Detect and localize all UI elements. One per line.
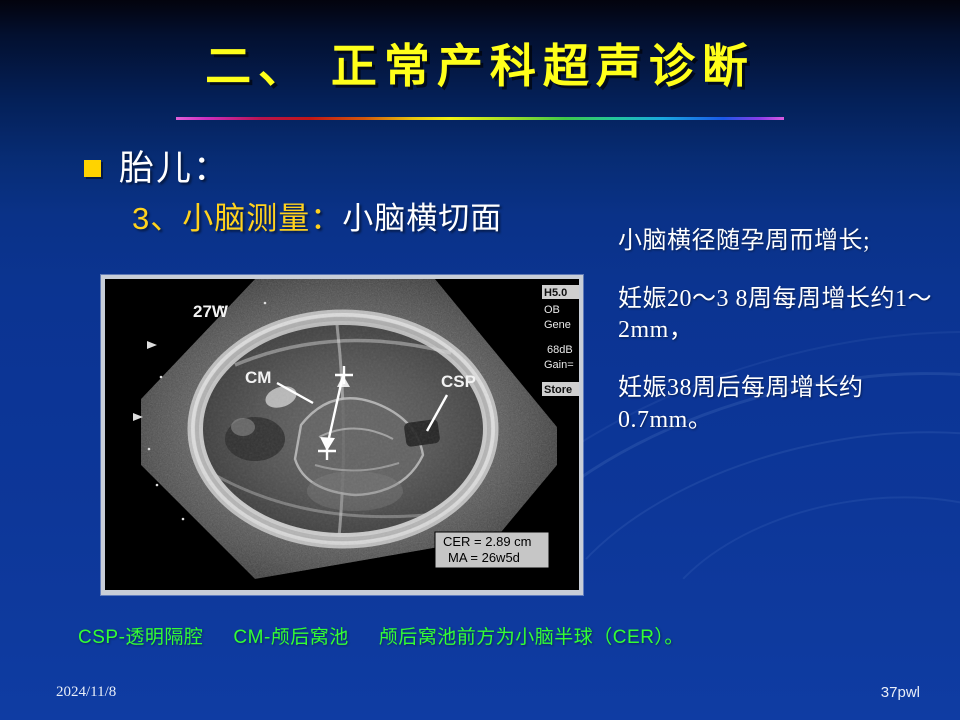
panel-power: 68dB	[547, 344, 573, 356]
panel-store-button[interactable]: Store	[544, 384, 572, 396]
footer-page-number: 37pwl	[881, 684, 920, 701]
annotation-csp-label: CSP	[441, 372, 476, 391]
measurement-cer: CER = 2.89 cm	[443, 534, 532, 549]
caption-part-cm: CM-颅后窝池	[233, 627, 348, 648]
square-bullet-icon	[84, 160, 101, 177]
title-rainbow-divider	[176, 117, 784, 120]
measurement-readout-box: CER = 2.89 cm MA = 26w5d	[435, 532, 549, 568]
background-swirl-decoration	[627, 464, 960, 720]
note-paragraph: 妊娠38周后每周增长约0.7mm。	[618, 373, 940, 436]
ultrasound-image: 27W CM CSP	[105, 279, 579, 590]
subheading-highlight: 3、小脑测量：	[132, 201, 342, 236]
slide-title: 二、 正常产科超声诊断	[0, 42, 960, 90]
measurement-ma: MA = 26w5d	[448, 550, 520, 565]
caption-part-cer: 颅后窝池前方为小脑半球（CER）。	[379, 627, 684, 648]
panel-preset: OB	[544, 304, 560, 316]
note-paragraph: 妊娠20～3 8周每周增长约1～2mm，	[618, 284, 940, 347]
notes-column: 小脑横径随孕周而增长; 妊娠20～3 8周每周增长约1～2mm， 妊娠38周后每…	[618, 226, 940, 436]
annotation-cm-label: CM	[245, 368, 271, 387]
subheading-plain: 小脑横切面	[342, 201, 502, 236]
figure-caption: CSP-透明隔腔CM-颅后窝池颅后窝池前方为小脑半球（CER）。	[78, 622, 684, 649]
panel-gain: Gain=	[544, 359, 574, 371]
panel-probe: H5.0	[544, 287, 567, 299]
caption-part-csp: CSP-透明隔腔	[78, 627, 203, 648]
slide-canvas: 二、 正常产科超声诊断 胎儿： 3、小脑测量：小脑横切面 小脑横径随孕周而增长;…	[0, 0, 960, 720]
bullet-label: 胎儿：	[119, 140, 230, 191]
panel-mode: Gene	[544, 319, 571, 331]
bullet-row: 胎儿：	[84, 140, 230, 191]
ultrasound-figure-frame: 27W CM CSP	[101, 275, 583, 595]
subheading: 3、小脑测量：小脑横切面	[132, 193, 502, 238]
ultrasound-svg: 27W CM CSP	[105, 279, 579, 590]
gestational-age-label: 27W	[193, 302, 229, 321]
footer-date: 2024/11/8	[56, 684, 116, 701]
note-paragraph: 小脑横径随孕周而增长;	[618, 226, 940, 258]
